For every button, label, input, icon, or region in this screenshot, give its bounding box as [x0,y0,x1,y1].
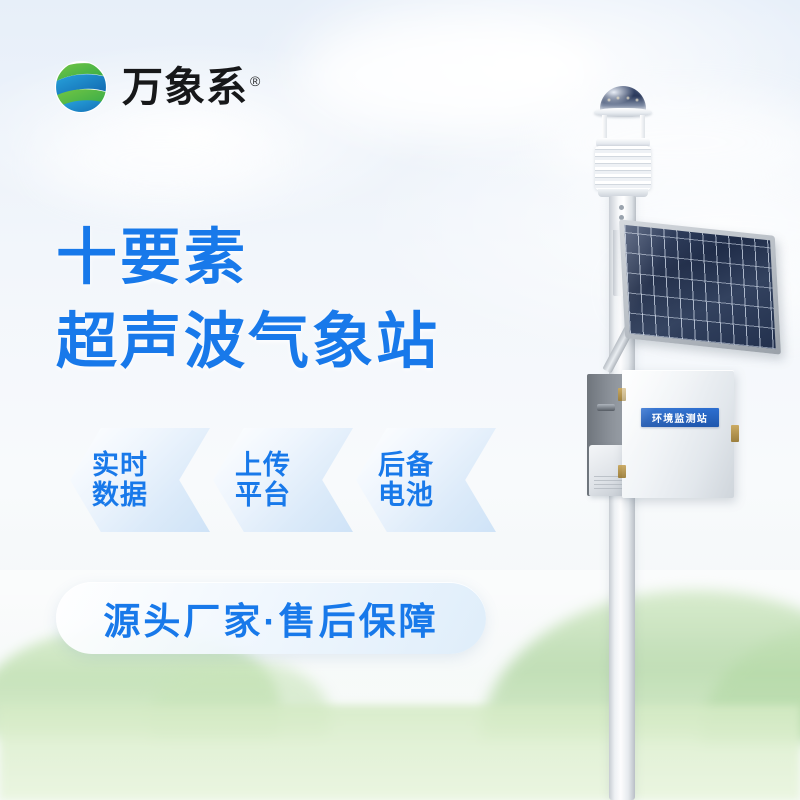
brand-name-text: 万象系 [122,64,248,110]
feature-badge-label: 实时 数据 [92,450,148,510]
brand-name: 万象系® [122,67,261,108]
badge-line-2: 数据 [92,480,148,510]
stem-fastener [619,205,624,210]
product-poster: 环境监测站 [0,0,800,800]
page-title: 十要素 超声波气象站 [56,222,440,378]
feature-badge-group: 实时 数据 上传 平台 后备 电池 [70,428,496,532]
solar-panel-glare [624,225,775,349]
cabinet-vent-slot [597,404,615,411]
badge-line-1: 后备 [378,450,434,480]
headline-line-2: 超声波气象站 [56,306,440,378]
feature-badge-realtime-data[interactable]: 实时 数据 [70,428,210,532]
badge-line-2: 平台 [235,480,291,510]
ultrasonic-transducer-icon [603,94,643,107]
brand-logo: 万象系® [52,58,261,116]
cabinet-label-plate: 环境监测站 [641,408,719,427]
globe-swoosh-icon [52,58,110,116]
guarantee-banner[interactable]: 源头厂家·售后保障 [56,582,486,654]
cabinet-latch [731,425,739,442]
cabinet-hinge [618,388,626,401]
cabinet-label-text: 环境监测站 [652,410,708,425]
feature-badge-upload-platform[interactable]: 上传 平台 [213,428,353,532]
solar-panel-icon [619,219,781,354]
badge-line-1: 实时 [92,450,148,480]
feature-badge-label: 上传 平台 [235,450,291,510]
weather-station-product: 环境监测站 [0,0,800,800]
cabinet-louvers [594,476,624,492]
cabinet-hinge [618,465,626,478]
badge-line-1: 上传 [235,450,291,480]
badge-line-2: 电池 [378,480,434,510]
feature-badge-backup-battery[interactable]: 后备 电池 [356,428,496,532]
registered-trademark-icon: ® [250,73,261,89]
control-cabinet-door [622,370,734,498]
headline-line-1: 十要素 [56,222,440,294]
guarantee-banner-text: 源头厂家·售后保障 [103,591,438,645]
feature-badge-label: 后备 电池 [378,450,434,510]
radiation-shield-icon [595,146,651,190]
